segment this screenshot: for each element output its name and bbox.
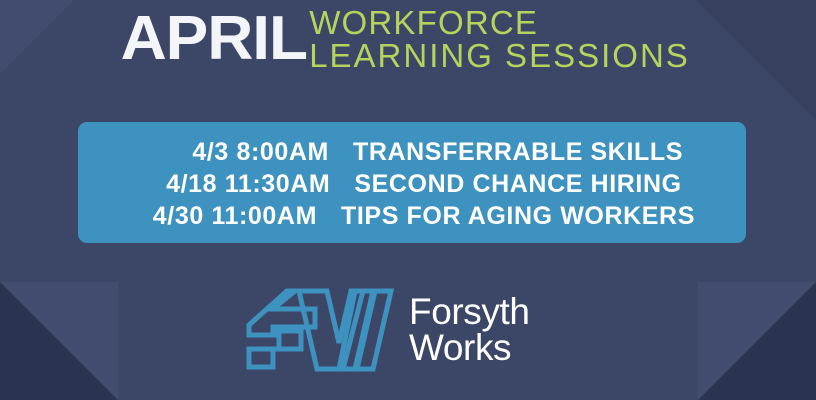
corner-accent-bottom-right-light [698,282,816,400]
session-title: TRANSFERRABLE SKILLS [353,136,683,168]
forsyth-works-logo: Forsyth Works [243,287,530,373]
header-month: APRIL [121,2,307,76]
sessions-panel: 4/3 8:00AM TRANSFERRABLE SKILLS 4/18 11:… [78,122,746,243]
fw-monogram-icon [243,287,395,373]
session-title: TIPS FOR AGING WORKERS [341,200,695,232]
logo-word-line-1: Forsyth [409,294,530,330]
session-datetime: 4/3 8:00AM [141,136,353,168]
session-row: 4/30 11:00AM TIPS FOR AGING WORKERS [129,200,695,232]
corner-accent-bottom-left-dark [0,282,118,400]
session-row: 4/18 11:30AM SECOND CHANCE HIRING [142,168,681,200]
header-subtitle-line-1: WORKFORCE [309,6,690,39]
corner-accent-bottom-left-light [0,282,118,400]
session-title: SECOND CHANCE HIRING [354,168,681,200]
session-row: 4/3 8:00AM TRANSFERRABLE SKILLS [141,136,683,168]
header-subtitle-line-2: LEARNING SESSIONS [309,39,690,72]
poster-canvas: APRIL WORKFORCE LEARNING SESSIONS 4/3 8:… [0,0,816,400]
poster-header: APRIL WORKFORCE LEARNING SESSIONS [0,2,816,76]
header-subtitle: WORKFORCE LEARNING SESSIONS [309,6,690,72]
session-datetime: 4/30 11:00AM [129,200,341,232]
logo-word-line-2: Works [409,330,530,366]
session-datetime: 4/18 11:30AM [142,168,354,200]
logo-wordmark: Forsyth Works [409,294,530,366]
corner-accent-bottom-right-dark [698,282,816,400]
